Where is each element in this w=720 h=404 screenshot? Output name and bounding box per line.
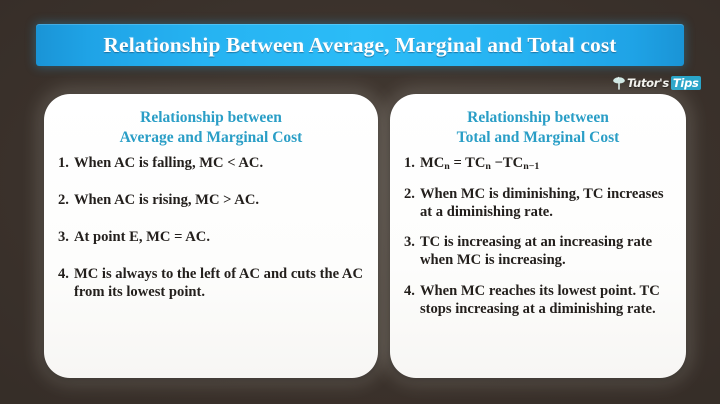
card-heading-average-marginal: Relationship between Average and Margina… <box>58 108 364 148</box>
list-item-text: At point E, MC = AC. <box>74 228 364 246</box>
points-list-average-marginal: 1. When AC is falling, MC < AC. 2. When … <box>58 154 364 301</box>
list-item-text: When AC is rising, MC > AC. <box>74 191 364 209</box>
list-item: 3. At point E, MC = AC. <box>58 228 364 246</box>
list-item: 3. TC is increasing at an increasing rat… <box>404 233 672 269</box>
list-item: 2. When AC is rising, MC > AC. <box>58 191 364 209</box>
list-item-number: 1. <box>58 154 74 172</box>
slide-canvas: Relationship Between Average, Marginal a… <box>0 0 720 404</box>
list-item-number: 2. <box>404 185 420 203</box>
points-list-total-marginal: 1. MCn = TCn −TCn−1 2. When MC is dimini… <box>404 154 672 318</box>
list-item: 1. MCn = TCn −TCn−1 <box>404 154 672 173</box>
card-heading-line1: Relationship between <box>467 109 609 126</box>
leaf-icon <box>612 76 626 91</box>
list-item-text: When MC is diminishing, TC increases at … <box>420 185 672 221</box>
card-heading-line2: Total and Marginal Cost <box>404 128 672 148</box>
list-item-text: When AC is falling, MC < AC. <box>74 154 364 172</box>
list-item-text: When MC reaches its lowest point. TC sto… <box>420 282 672 318</box>
tutors-tips-logo[interactable]: Tutor's Tips <box>612 73 701 93</box>
list-item-text: MC is always to the left of AC and cuts … <box>74 265 364 301</box>
marginal-cost-formula: MCn = TCn −TCn−1 <box>420 154 672 173</box>
list-item-number: 1. <box>404 154 420 172</box>
card-average-marginal: Relationship between Average and Margina… <box>44 94 378 378</box>
list-item-number: 3. <box>404 233 420 251</box>
card-total-marginal: Relationship between Total and Marginal … <box>390 94 686 378</box>
page-title: Relationship Between Average, Marginal a… <box>103 33 616 58</box>
list-item: 2. When MC is diminishing, TC increases … <box>404 185 672 221</box>
list-item: 4. MC is always to the left of AC and cu… <box>58 265 364 301</box>
list-item-number: 4. <box>58 265 74 283</box>
logo-word-secondary: Tips <box>671 76 701 90</box>
card-heading-line1: Relationship between <box>140 109 282 126</box>
list-item-number: 3. <box>58 228 74 246</box>
logo-word-primary: Tutor's <box>627 76 669 90</box>
list-item-text: TC is increasing at an increasing rate w… <box>420 233 672 269</box>
card-heading-total-marginal: Relationship between Total and Marginal … <box>404 108 672 148</box>
list-item-number: 4. <box>404 282 420 300</box>
list-item: 4. When MC reaches its lowest point. TC … <box>404 282 672 318</box>
title-bar: Relationship Between Average, Marginal a… <box>36 24 684 66</box>
card-heading-line2: Average and Marginal Cost <box>58 128 364 148</box>
list-item: 1. When AC is falling, MC < AC. <box>58 154 364 172</box>
list-item-number: 2. <box>58 191 74 209</box>
